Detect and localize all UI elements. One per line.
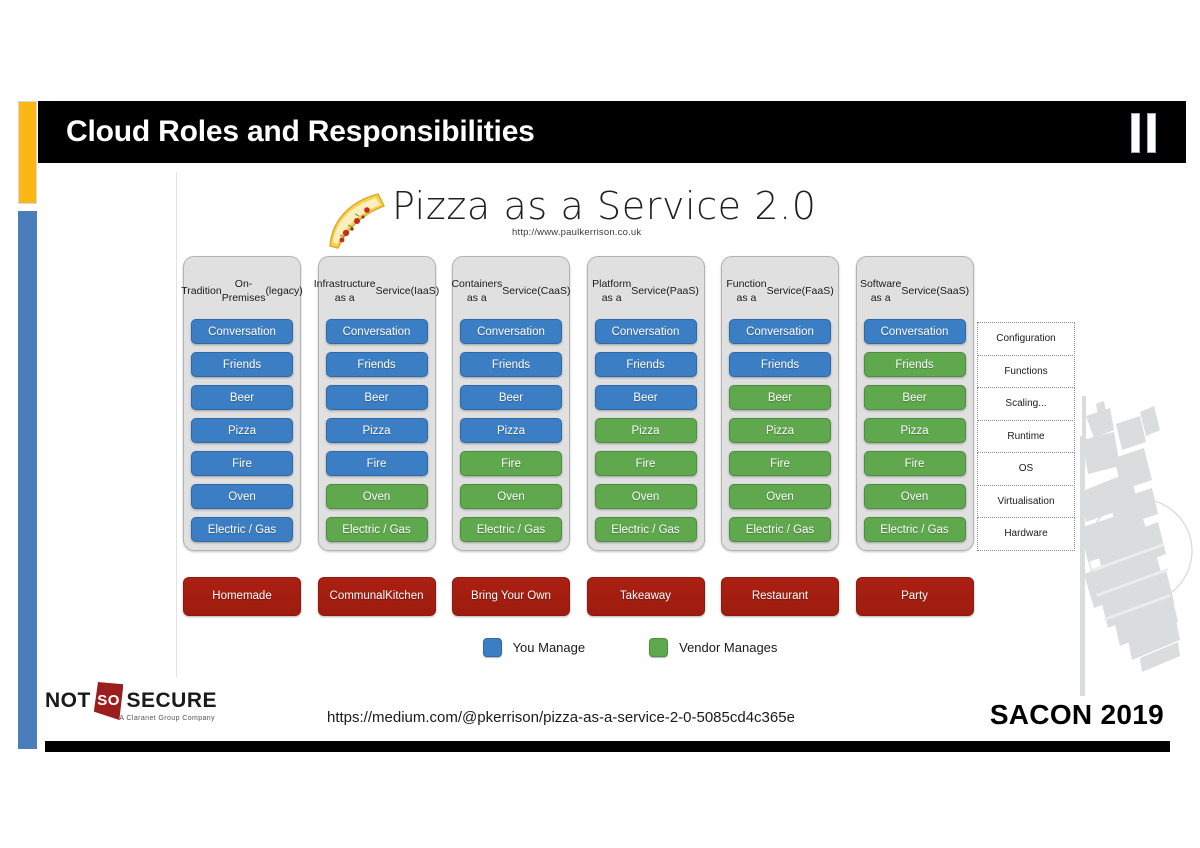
left-accent-strip-orange: [18, 101, 37, 204]
analogy-box-line: Communal: [330, 589, 386, 603]
layer-cell: Oven: [326, 484, 428, 509]
layer-cell: Conversation: [326, 319, 428, 344]
layer-cell: Beer: [729, 385, 831, 410]
service-column-header-line: Service: [376, 285, 411, 299]
layer-cell: Friends: [191, 352, 293, 377]
layer-cell: Electric / Gas: [864, 517, 966, 542]
tech-stack-item: Configuration: [977, 322, 1075, 356]
diagram-panel: Pizza as a Service 2.0 http://www.paulke…: [176, 172, 1082, 677]
analogy-box: Restaurant: [721, 577, 839, 616]
analogy-box-line: Bring Your Own: [471, 589, 551, 603]
layer-cell: Beer: [864, 385, 966, 410]
diagram-heading: Pizza as a Service 2.0 http://www.paulke…: [322, 186, 817, 250]
service-column-header-line: Software as a: [860, 278, 901, 306]
slide-title-bar: Cloud Roles and Responsibilities: [38, 101, 1186, 163]
layer-cell: Fire: [729, 451, 831, 476]
layer-cell: Pizza: [595, 418, 697, 443]
tech-stack-item: Scaling...: [977, 387, 1075, 421]
logo-word-not: NOT: [45, 689, 91, 713]
tech-stack-item: Runtime: [977, 420, 1075, 454]
service-column: Function as aService(FaaS)ConversationFr…: [721, 256, 839, 551]
service-column-header: Infrastructure as aService(IaaS): [326, 264, 428, 319]
layer-cell: Electric / Gas: [595, 517, 697, 542]
analogy-box-line: Restaurant: [752, 589, 808, 603]
layer-cell: Conversation: [595, 319, 697, 344]
legend: You ManageVendor Manages: [177, 638, 1083, 657]
layer-cell: Pizza: [460, 418, 562, 443]
layer-cell: Oven: [460, 484, 562, 509]
slide: Cloud Roles and Responsibilities Pizza a…: [0, 0, 1200, 848]
service-column-header: Containers as aService(CaaS): [460, 264, 562, 319]
analogy-box-line: Kitchen: [385, 589, 423, 603]
layer-cell: Pizza: [191, 418, 293, 443]
layer-cell: Oven: [864, 484, 966, 509]
layer-cell: Friends: [326, 352, 428, 377]
brand-mark-icon: [1122, 113, 1164, 153]
source-url[interactable]: https://medium.com/@pkerrison/pizza-as-a…: [327, 709, 795, 726]
layer-cell: Fire: [191, 451, 293, 476]
service-column-header-line: Service: [502, 285, 537, 299]
legend-swatch: [483, 638, 502, 657]
analogy-box: CommunalKitchen: [318, 577, 436, 616]
layer-cell: Fire: [595, 451, 697, 476]
service-column: Software as aService(SaaS)ConversationFr…: [856, 256, 974, 551]
layer-cell: Electric / Gas: [729, 517, 831, 542]
service-column-header-line: Function as a: [726, 278, 766, 306]
legend-label: You Manage: [513, 640, 586, 655]
service-column-header-line: Service: [901, 285, 936, 299]
notsosecure-logo: NOT SO SECURE A Claranet Group Company: [45, 688, 217, 728]
layer-cell: Pizza: [326, 418, 428, 443]
diagram-title: Pizza as a Service 2.0: [392, 186, 817, 226]
layer-cell: Pizza: [864, 418, 966, 443]
layer-cell: Pizza: [729, 418, 831, 443]
service-column-header-line: (SaaS): [936, 285, 969, 299]
layer-cell: Oven: [595, 484, 697, 509]
layer-cell: Electric / Gas: [460, 517, 562, 542]
legend-item: You Manage: [483, 638, 586, 657]
service-column-header-line: (legacy): [265, 285, 302, 299]
service-column-header-line: (CaaS): [537, 285, 570, 299]
tech-stack-item: Virtualisation: [977, 485, 1075, 519]
service-column-header-line: Tradition: [181, 285, 221, 299]
service-model-columns: TraditionOn-Premises(legacy)Conversation…: [183, 256, 974, 551]
layer-cell: Oven: [729, 484, 831, 509]
service-column-header-line: Platform as a: [592, 278, 631, 306]
service-column-header-line: (IaaS): [411, 285, 440, 299]
layer-cell: Electric / Gas: [326, 517, 428, 542]
page-title: Cloud Roles and Responsibilities: [66, 115, 535, 149]
service-column-header-line: Containers as a: [451, 278, 502, 306]
layer-cell: Beer: [326, 385, 428, 410]
layer-cell: Beer: [191, 385, 293, 410]
diagram-subtitle: http://www.paulkerrison.co.uk: [512, 227, 641, 238]
layer-cell: Beer: [595, 385, 697, 410]
service-column-header-line: Infrastructure as a: [314, 278, 376, 306]
skyline-watermark-icon: [1080, 396, 1200, 696]
logo-word-secure: SECURE: [126, 689, 217, 713]
analogy-row: HomemadeCommunalKitchenBring Your OwnTak…: [183, 577, 974, 616]
service-column-header-line: Service: [631, 285, 666, 299]
analogy-box: Homemade: [183, 577, 301, 616]
tech-stack-item: Hardware: [977, 517, 1075, 551]
conference-label: SACON 2019: [990, 699, 1164, 731]
service-column-header: Platform as aService(PaaS): [595, 264, 697, 319]
legend-swatch: [649, 638, 668, 657]
layer-cell: Oven: [191, 484, 293, 509]
analogy-box: Bring Your Own: [452, 577, 570, 616]
logo-badge-text: SO: [94, 682, 124, 720]
tech-stack-list: ConfigurationFunctionsScaling...RuntimeO…: [977, 322, 1075, 550]
service-column-header-line: (FaaS): [802, 285, 834, 299]
footer-bar: [45, 741, 1170, 752]
legend-label: Vendor Manages: [679, 640, 777, 655]
service-column-header: Software as aService(SaaS): [864, 264, 966, 319]
layer-cell: Conversation: [864, 319, 966, 344]
left-accent-strip-blue: [18, 211, 37, 749]
tech-stack-item: Functions: [977, 355, 1075, 389]
layer-cell: Friends: [595, 352, 697, 377]
service-column-header: TraditionOn-Premises(legacy): [191, 264, 293, 319]
analogy-box: Party: [856, 577, 974, 616]
layer-cell: Fire: [326, 451, 428, 476]
service-column-header-line: Service: [767, 285, 802, 299]
layer-cell: Friends: [729, 352, 831, 377]
layer-cell: Electric / Gas: [191, 517, 293, 542]
layer-cell: Beer: [460, 385, 562, 410]
tech-stack-item: OS: [977, 452, 1075, 486]
layer-cell: Friends: [460, 352, 562, 377]
layer-cell: Conversation: [729, 319, 831, 344]
layer-cell: Friends: [864, 352, 966, 377]
service-column: Platform as aService(PaaS)ConversationFr…: [587, 256, 705, 551]
service-column-header: Function as aService(FaaS): [729, 264, 831, 319]
layer-cell: Conversation: [460, 319, 562, 344]
analogy-box-line: Party: [901, 589, 928, 603]
legend-item: Vendor Manages: [649, 638, 777, 657]
layer-cell: Fire: [460, 451, 562, 476]
analogy-box-line: Homemade: [212, 589, 271, 603]
layer-cell: Conversation: [191, 319, 293, 344]
analogy-box-line: Takeaway: [620, 589, 671, 603]
pizza-slice-icon: [322, 192, 388, 250]
logo-tagline: A Claranet Group Company: [45, 715, 217, 722]
service-column-header-line: (PaaS): [666, 285, 699, 299]
analogy-box: Takeaway: [587, 577, 705, 616]
service-column: TraditionOn-Premises(legacy)Conversation…: [183, 256, 301, 551]
service-column-header-line: On-Premises: [222, 278, 266, 306]
logo-badge-so: SO: [94, 682, 124, 720]
service-column: Containers as aService(CaaS)Conversation…: [452, 256, 570, 551]
layer-cell: Fire: [864, 451, 966, 476]
service-column: Infrastructure as aService(IaaS)Conversa…: [318, 256, 436, 551]
